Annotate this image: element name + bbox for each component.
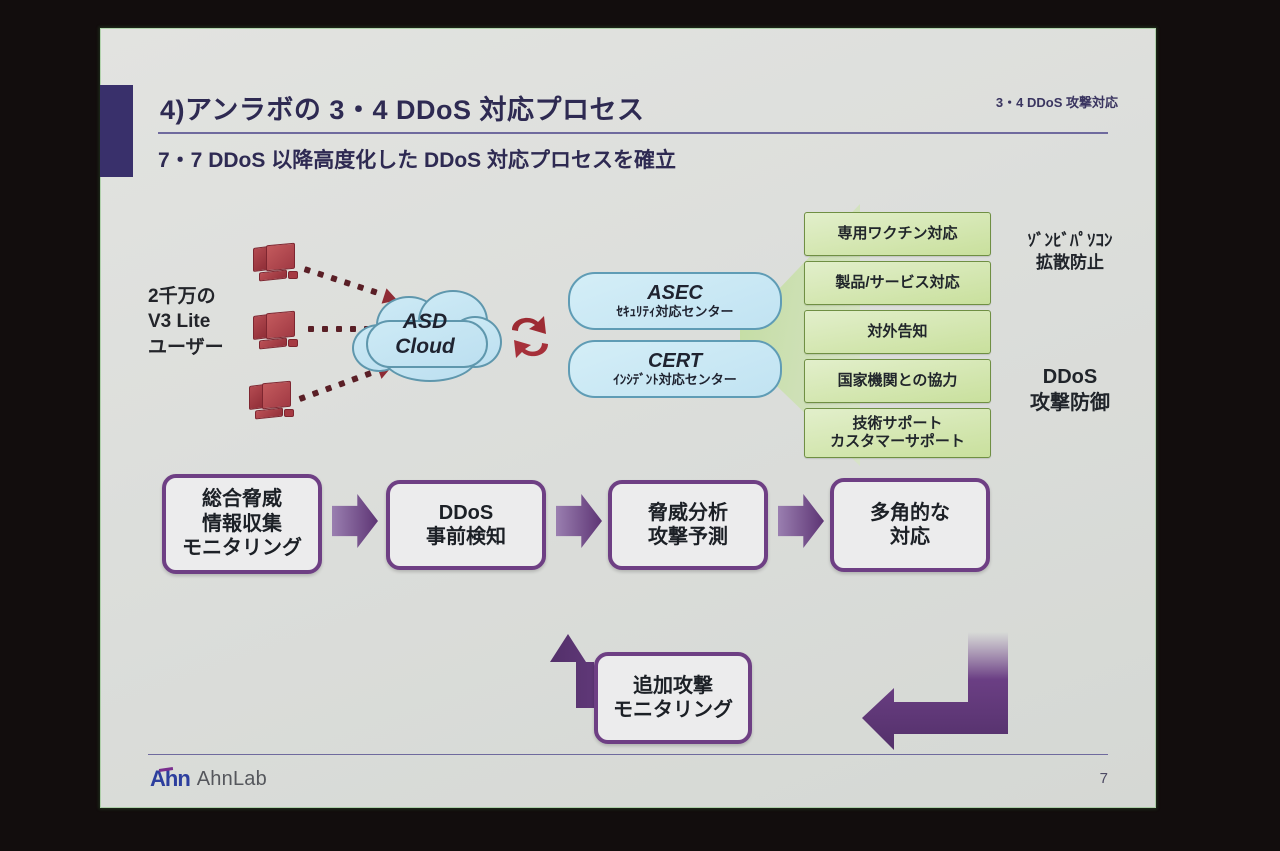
action-box-line-2: カスタマーサポート <box>830 433 965 451</box>
cloud-label-line-2: Cloud <box>352 335 498 360</box>
header-right-note: 3・4 DDoS 攻撃対応 <box>996 92 1118 111</box>
presentation-slide: 4)アンラボの 3・4 DDoS 対応プロセス 3・4 DDoS 攻撃対応 7・… <box>100 28 1156 808</box>
feedback-box-line-2: モニタリング <box>613 698 733 722</box>
note-ddos-defense-line-1: DDoS <box>996 364 1144 390</box>
cloud-label-line-1: ASD <box>352 310 498 335</box>
process-step-3: 脅威分析 攻撃予測 <box>608 480 768 570</box>
center-cert: CERT ｲﾝｼﾃﾞﾝﾄ対応センター <box>568 340 782 398</box>
feedback-box: 追加攻撃 モニタリング <box>594 652 752 744</box>
action-box-line-1: 技術サポート <box>852 415 942 433</box>
title-accent-block <box>100 85 133 177</box>
pc-mouse <box>288 339 298 347</box>
sync-arrows-icon <box>504 310 556 364</box>
center-asec-name: ASEC <box>647 283 703 304</box>
process-step-1-line-1: 総合脅威 <box>202 487 282 511</box>
ahnlab-logo-name: AhnLab <box>197 768 267 791</box>
header-divider <box>158 132 1108 134</box>
page-title: 4)アンラボの 3・4 DDoS 対応プロセス <box>160 88 644 127</box>
center-cert-name: CERT <box>648 351 702 372</box>
pc-monitor <box>262 381 291 410</box>
note-zombie-pc: ｿﾞﾝﾋﾞﾊﾟｿｺﾝ 拡散防止 <box>996 230 1144 274</box>
note-zombie-pc-line-1: ｿﾞﾝﾋﾞﾊﾟｿｺﾝ <box>996 230 1144 252</box>
process-step-1-line-2: 情報収集 <box>202 512 282 536</box>
asd-cloud: ASD Cloud <box>352 290 498 382</box>
users-label-line-3: ユーザー <box>148 335 224 360</box>
pc-keyboard <box>259 338 287 350</box>
ahnlab-logo-mark: Ahn <box>150 766 190 792</box>
pc-keyboard <box>255 408 283 420</box>
process-step-3-line-1: 脅威分析 <box>648 501 728 525</box>
desktop-pc-icon <box>248 380 300 426</box>
center-asec-desc: ｾｷｭﾘﾃｨ対応センター <box>616 305 733 320</box>
pc-mouse <box>284 409 294 417</box>
users-label: 2千万の V3 Lite ユーザー <box>148 284 224 360</box>
action-box: 対外告知 <box>804 310 991 354</box>
process-step-2-line-1: DDoS <box>439 501 493 525</box>
process-step-4-line-2: 対応 <box>890 525 930 549</box>
users-label-line-1: 2千万の <box>148 284 224 309</box>
center-asec: ASEC ｾｷｭﾘﾃｨ対応センター <box>568 272 782 330</box>
center-cert-desc: ｲﾝｼﾃﾞﾝﾄ対応センター <box>613 373 737 388</box>
footer-divider <box>148 754 1108 755</box>
feedback-arrow-right <box>860 632 1010 752</box>
action-box: 技術サポート カスタマーサポート <box>804 408 991 458</box>
process-step-3-line-2: 攻撃予測 <box>648 525 728 549</box>
desktop-pc-icon <box>252 242 304 288</box>
feedback-box-line-1: 追加攻撃 <box>633 674 713 698</box>
process-arrow-1 <box>332 494 378 548</box>
page-subtitle: 7・7 DDoS 以降高度化した DDoS 対応プロセスを確立 <box>158 144 676 174</box>
note-zombie-pc-line-2: 拡散防止 <box>996 252 1144 274</box>
users-label-line-2: V3 Lite <box>148 309 224 334</box>
cloud-label: ASD Cloud <box>352 310 498 360</box>
process-step-4: 多角的な 対応 <box>830 478 990 572</box>
process-step-4-line-1: 多角的な <box>870 501 950 525</box>
process-arrow-2 <box>556 494 602 548</box>
process-step-1-line-3: モニタリング <box>182 536 302 560</box>
action-box: 製品/サービス対応 <box>804 261 991 305</box>
action-box: 専用ワクチン対応 <box>804 212 991 256</box>
ahnlab-logo: Ahn AhnLab <box>150 766 267 792</box>
pc-monitor <box>266 311 295 340</box>
desktop-pc-icon <box>252 310 304 356</box>
note-ddos-defense: DDoS 攻撃防御 <box>996 364 1144 416</box>
pc-mouse <box>288 271 298 279</box>
process-step-2-line-2: 事前検知 <box>426 525 506 549</box>
action-box: 国家機関との協力 <box>804 359 991 403</box>
page-number: 7 <box>1100 770 1108 787</box>
note-ddos-defense-line-2: 攻撃防御 <box>996 390 1144 416</box>
process-step-2: DDoS 事前検知 <box>386 480 546 570</box>
pc-keyboard <box>259 270 287 282</box>
pc-monitor <box>266 243 295 272</box>
process-step-1: 総合脅威 情報収集 モニタリング <box>162 474 322 574</box>
process-arrow-3 <box>778 494 824 548</box>
